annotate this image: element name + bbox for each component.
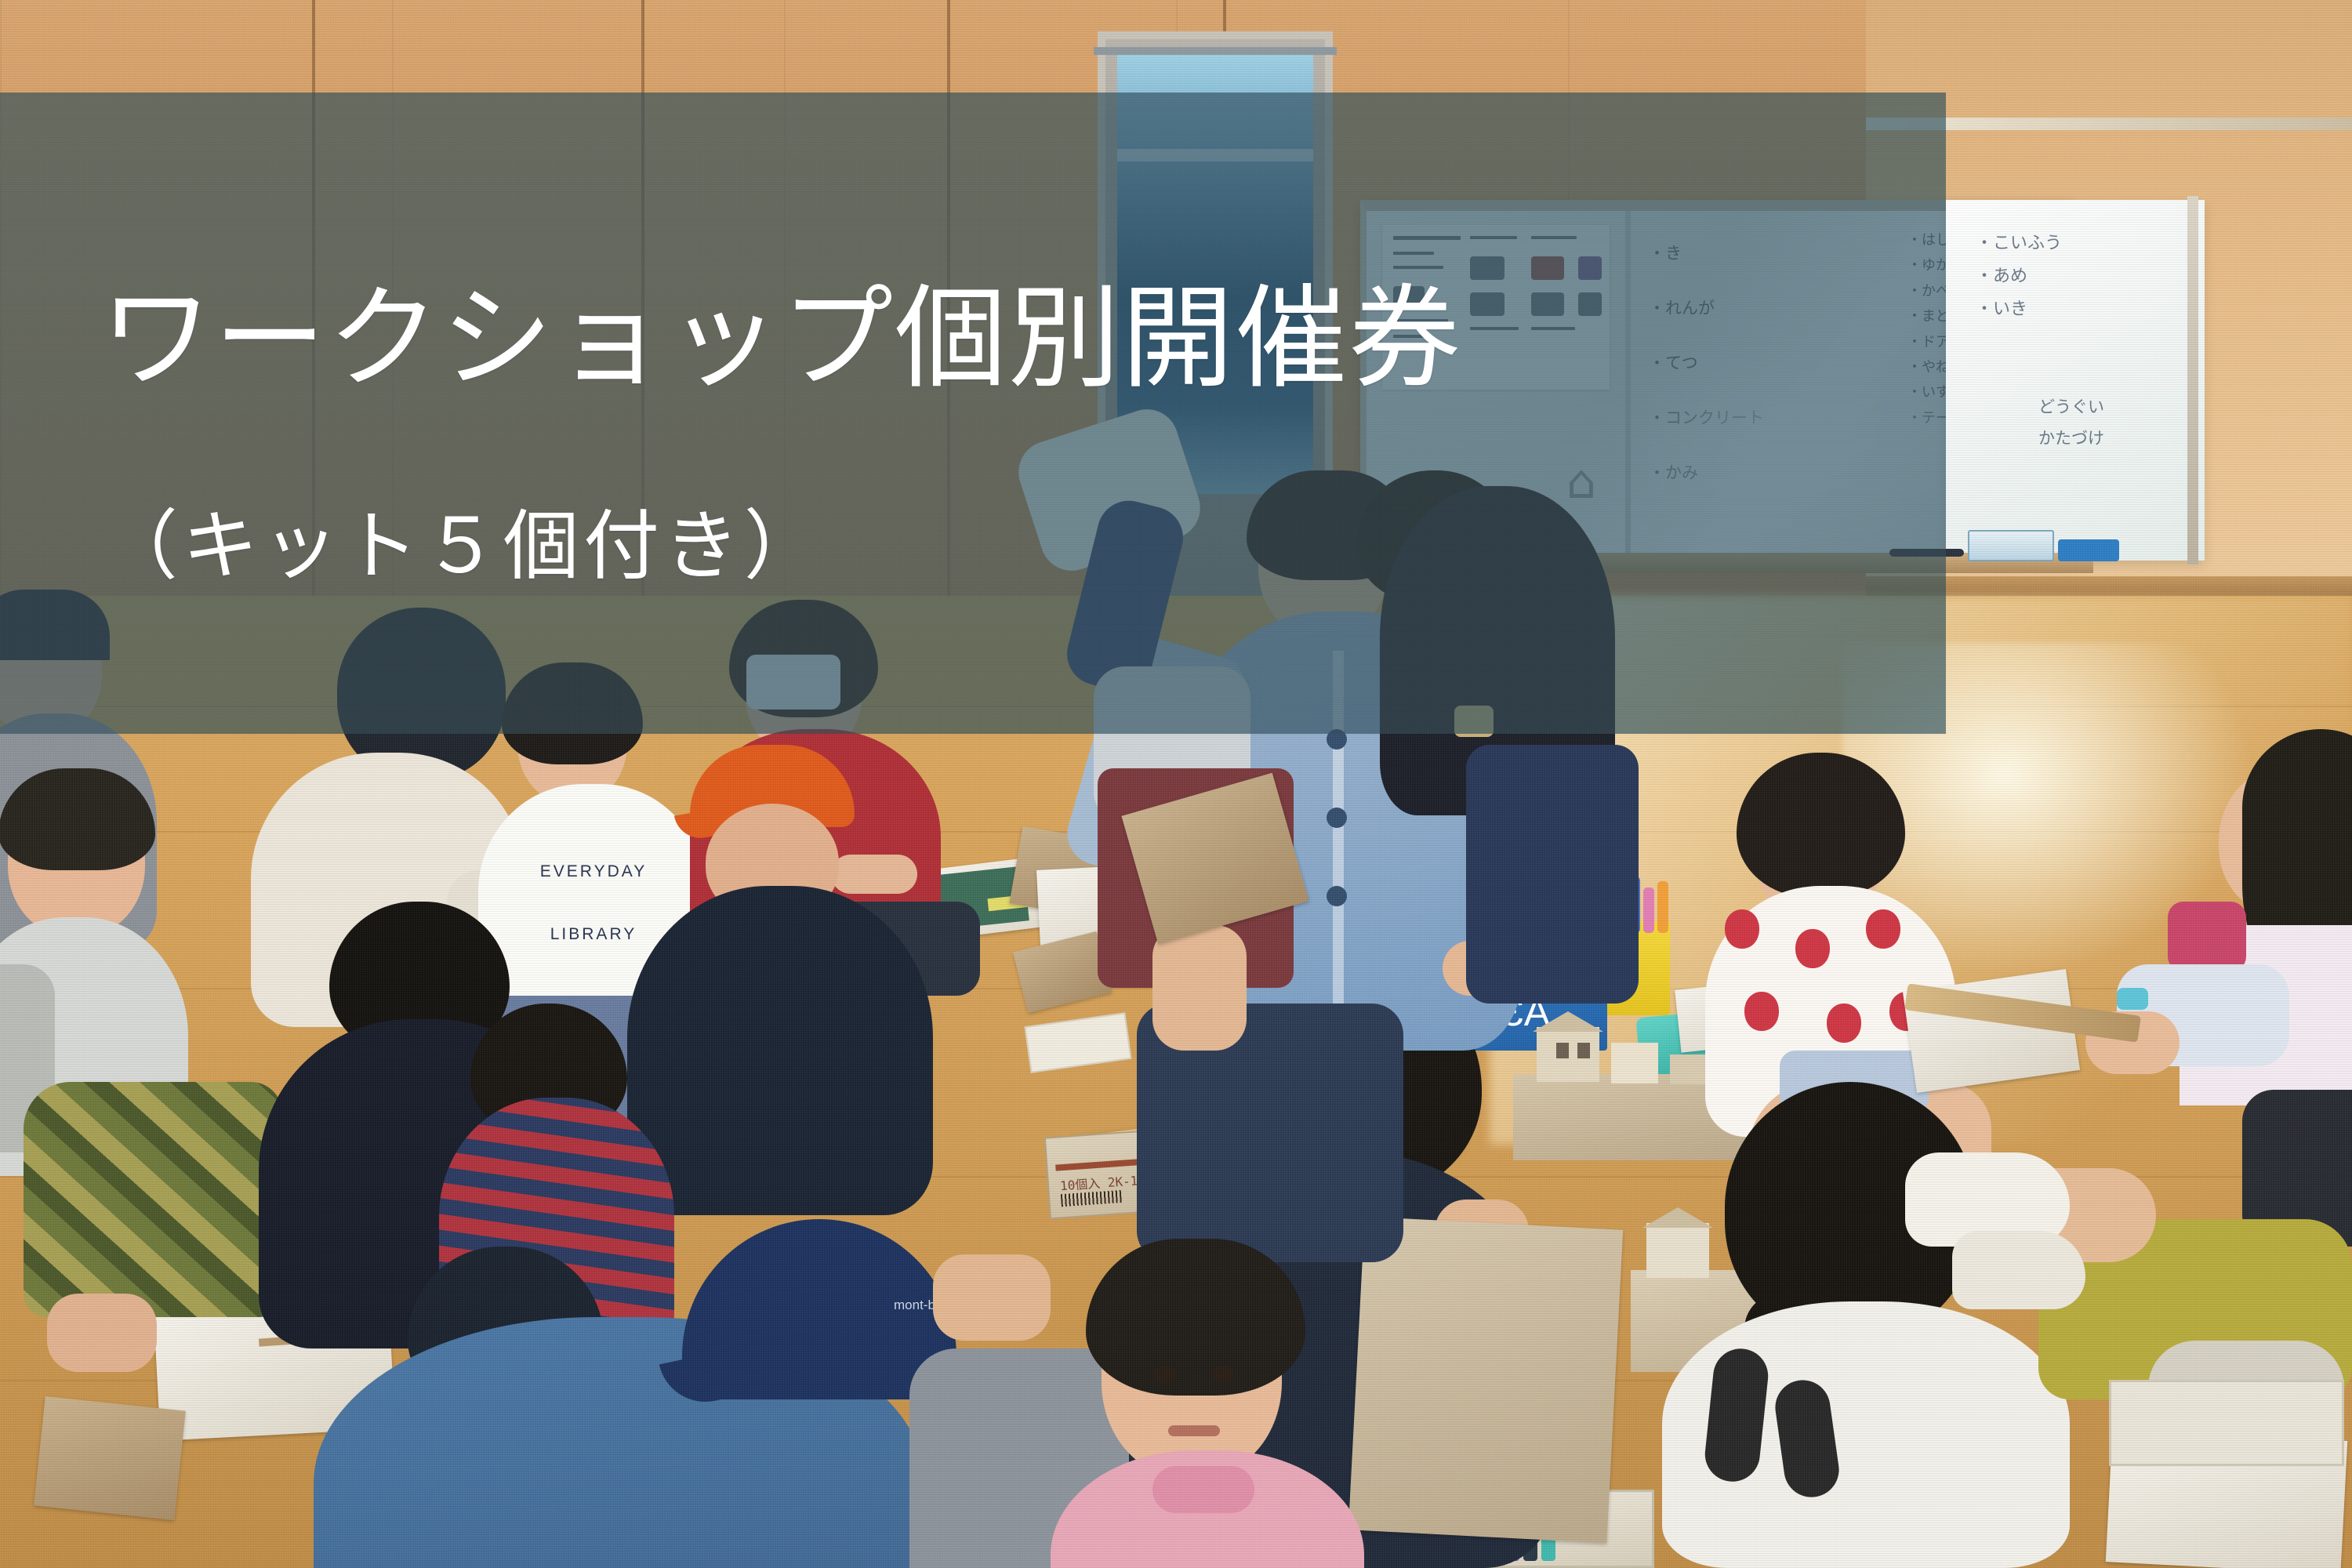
tshirt-text: LIBRARY <box>527 925 660 946</box>
tshirt-text: EVERYDAY <box>527 862 660 883</box>
model-house <box>1611 1043 1658 1083</box>
model-window <box>1577 1043 1590 1058</box>
collar <box>1152 1466 1254 1513</box>
bare-foot <box>47 1294 157 1372</box>
mouth <box>1168 1425 1220 1436</box>
eraser-case <box>1968 530 2054 561</box>
cardboard-board <box>1348 1217 1623 1544</box>
hand <box>831 855 917 894</box>
pink-sleeve <box>2168 902 2246 972</box>
apple-print <box>1725 909 1759 949</box>
hair <box>0 768 155 870</box>
camo-pants <box>24 1082 282 1317</box>
hair <box>1086 1239 1305 1396</box>
apple-print <box>1795 929 1830 968</box>
marker-pen <box>1643 887 1654 933</box>
whiteboard-right-notes: どうぐい かたづけ <box>2038 392 2104 455</box>
banner-title: ワークショップ個別開催券 <box>100 282 1462 394</box>
apple-print <box>1744 992 1779 1031</box>
blue-eraser <box>2058 539 2119 561</box>
apple-print <box>1827 1004 1861 1043</box>
model-house <box>1646 1223 1709 1278</box>
banner-image: ・き ・れんが ・てつ ・コンクリート ・かみ ・はしら ・ゆか ・かべ ・まど… <box>0 0 2352 1568</box>
ear-neck <box>933 1254 1051 1341</box>
apple-print <box>1866 909 1900 949</box>
shirt-button <box>1327 886 1347 906</box>
teal-overlay-tint <box>0 93 1946 734</box>
whiteboard-right-text: ・こいふう ・あめ ・いき <box>1976 227 2062 325</box>
box-lid <box>2109 1380 2344 1466</box>
model-window <box>1556 1043 1569 1058</box>
slipper <box>1952 1231 2085 1309</box>
marker-pen <box>1657 881 1668 933</box>
jeans <box>1466 745 1639 1004</box>
hair <box>1737 753 1905 898</box>
whiteboard-post <box>2187 196 2198 564</box>
bracelet <box>2117 988 2148 1010</box>
shirt-button <box>1327 808 1347 828</box>
eye <box>1154 1366 1176 1383</box>
banner-subtitle: （キット５個付き） <box>102 508 824 584</box>
eye <box>1211 1366 1233 1383</box>
leg <box>1152 925 1247 1051</box>
cardboard-piece <box>34 1396 186 1520</box>
door-header <box>1094 47 1337 55</box>
